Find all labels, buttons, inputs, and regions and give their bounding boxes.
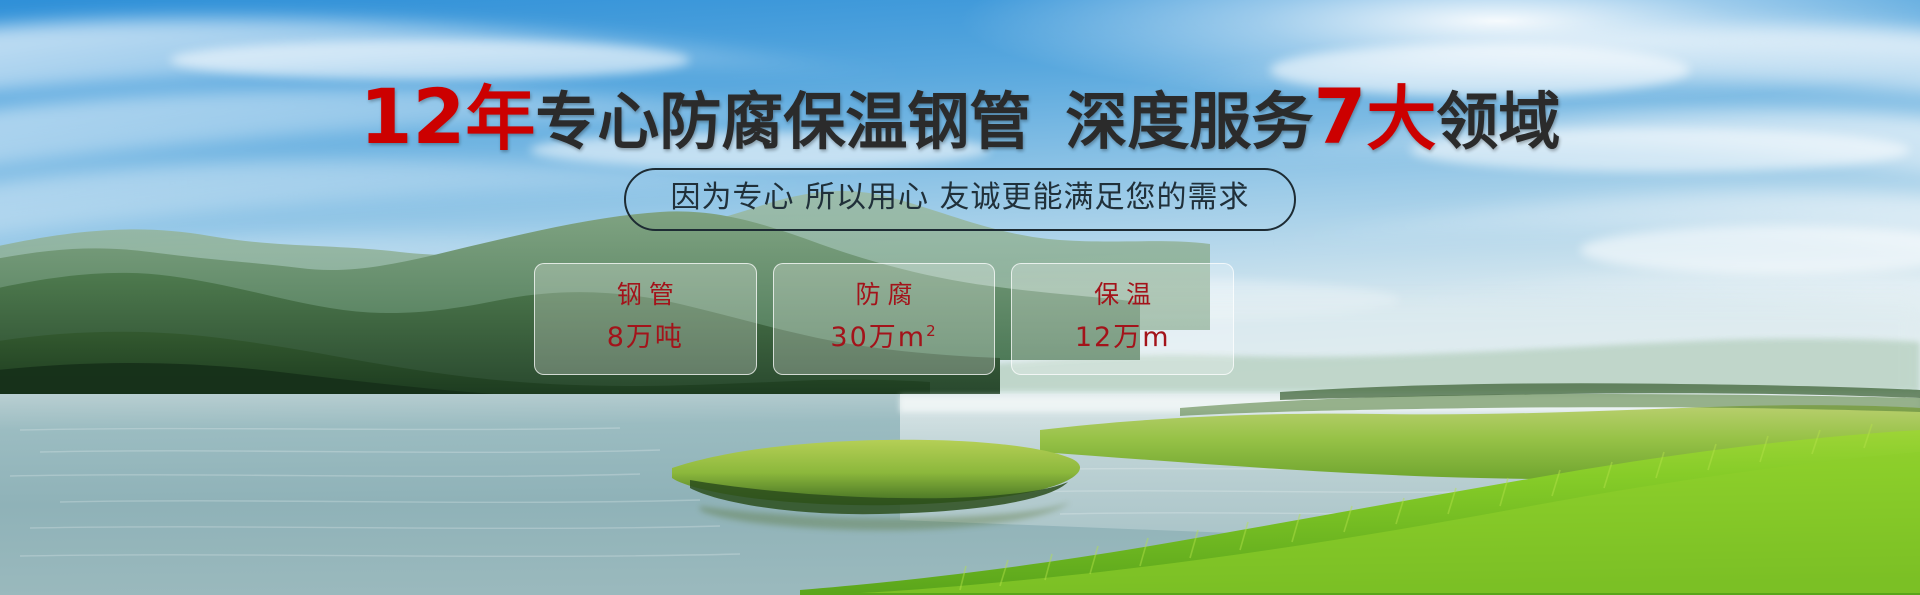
headline-fields-number: 7 <box>1313 72 1366 161</box>
subtitle-container: 因为专心 所以用心 友诚更能满足您的需求 <box>0 168 1920 231</box>
stat-card-title: 保温 <box>1087 278 1158 312</box>
stat-card-value: 12万m <box>1075 312 1171 357</box>
stat-card-value-text: 8万吨 <box>607 322 684 353</box>
headline-years-number: 12 <box>360 72 466 161</box>
headline-years-unit: 年 <box>465 78 535 160</box>
stat-card-value-text: 12万m <box>1075 322 1171 353</box>
hero-banner: 12年专心防腐保温钢管深度服务7大领域 因为专心 所以用心 友诚更能满足您的需求… <box>0 0 1920 595</box>
headline: 12年专心防腐保温钢管深度服务7大领域 <box>0 82 1920 157</box>
stat-card-insulation: 保温 12万m <box>1011 263 1234 375</box>
stat-card-anticorrosion: 防腐 30万m2 <box>773 263 996 375</box>
subtitle-pill: 因为专心 所以用心 友诚更能满足您的需求 <box>624 168 1295 231</box>
headline-service-phrase: 深度服务 <box>1065 85 1313 158</box>
headline-fields-unit: 大 <box>1366 78 1436 160</box>
stat-card-title: 防腐 <box>849 278 920 312</box>
stat-card-title: 钢管 <box>610 278 681 312</box>
stat-card-value: 8万吨 <box>607 312 684 357</box>
headline-main-phrase: 专心防腐保温钢管 <box>535 85 1031 158</box>
stat-card-value-sup: 2 <box>926 322 938 340</box>
headline-fields-word: 领域 <box>1436 85 1560 158</box>
stat-card-value-text: 30万m <box>830 322 926 353</box>
stat-card-steel-pipe: 钢管 8万吨 <box>534 263 757 375</box>
stat-cards: 钢管 8万吨 防腐 30万m2 保温 12万m <box>534 263 1234 375</box>
stat-card-value: 30万m2 <box>830 312 937 357</box>
